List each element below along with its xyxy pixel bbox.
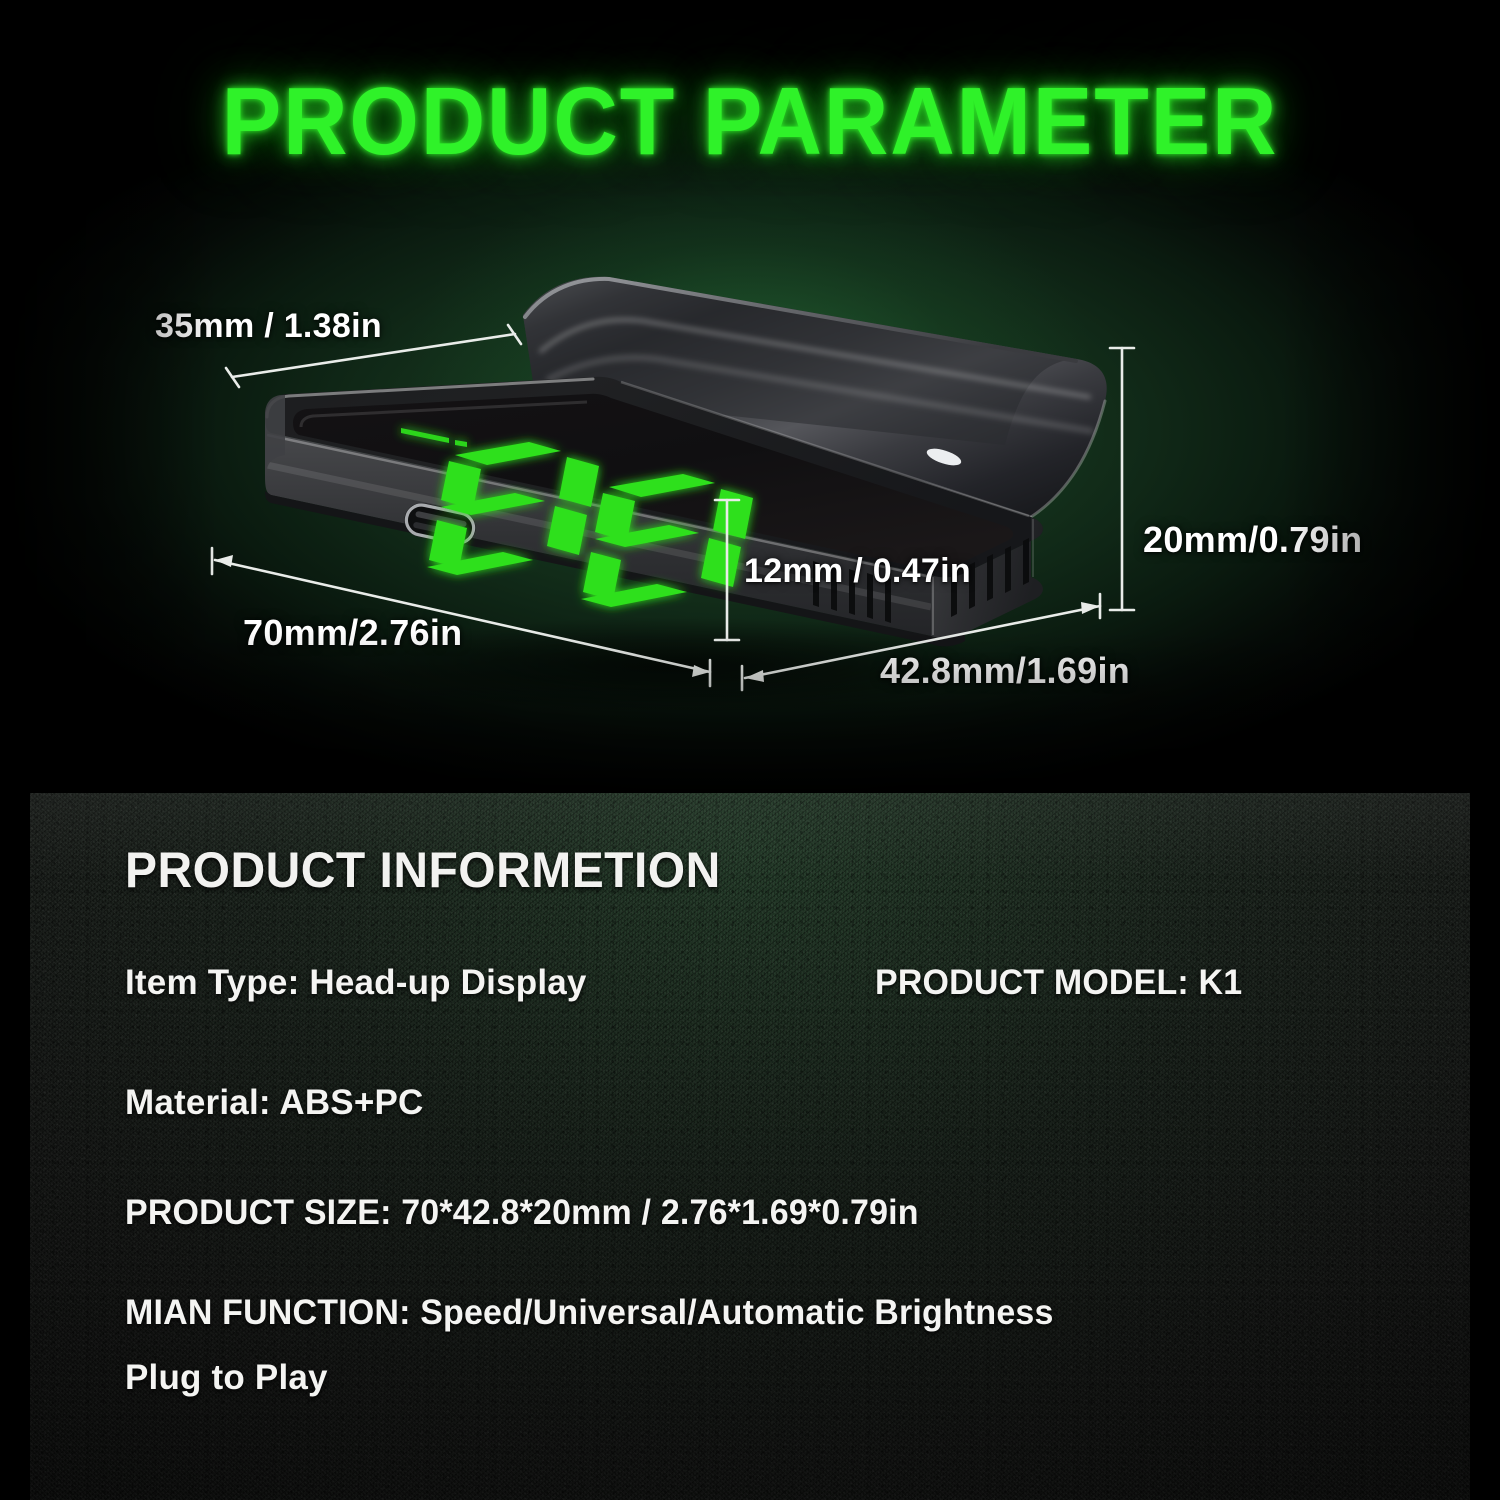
- product-information-panel: PRODUCT INFORMETION Item Type: Head-up D…: [30, 793, 1470, 1500]
- info-content: PRODUCT INFORMETION Item Type: Head-up D…: [30, 793, 1470, 1500]
- product-infographic: 35mm / 1.38in 70mm/2.76in 12mm / 0.47in …: [0, 0, 1500, 1500]
- info-row-main-function: MIAN FUNCTION: Speed/Universal/Automatic…: [125, 1293, 1054, 1333]
- info-row-item-type: Item Type: Head-up Display: [125, 963, 587, 1003]
- info-row-plug-to-play: Plug to Play: [125, 1358, 328, 1398]
- page-title: PRODUCT PARAMETER: [53, 74, 1448, 170]
- info-row-product-model: PRODUCT MODEL: K1: [875, 963, 1242, 1003]
- info-row-product-size: PRODUCT SIZE: 70*42.8*20mm / 2.76*1.69*0…: [125, 1193, 919, 1233]
- hero-section: 35mm / 1.38in 70mm/2.76in 12mm / 0.47in …: [0, 0, 1500, 800]
- info-row-material: Material: ABS+PC: [125, 1083, 424, 1123]
- info-panel-title: PRODUCT INFORMETION: [125, 841, 721, 899]
